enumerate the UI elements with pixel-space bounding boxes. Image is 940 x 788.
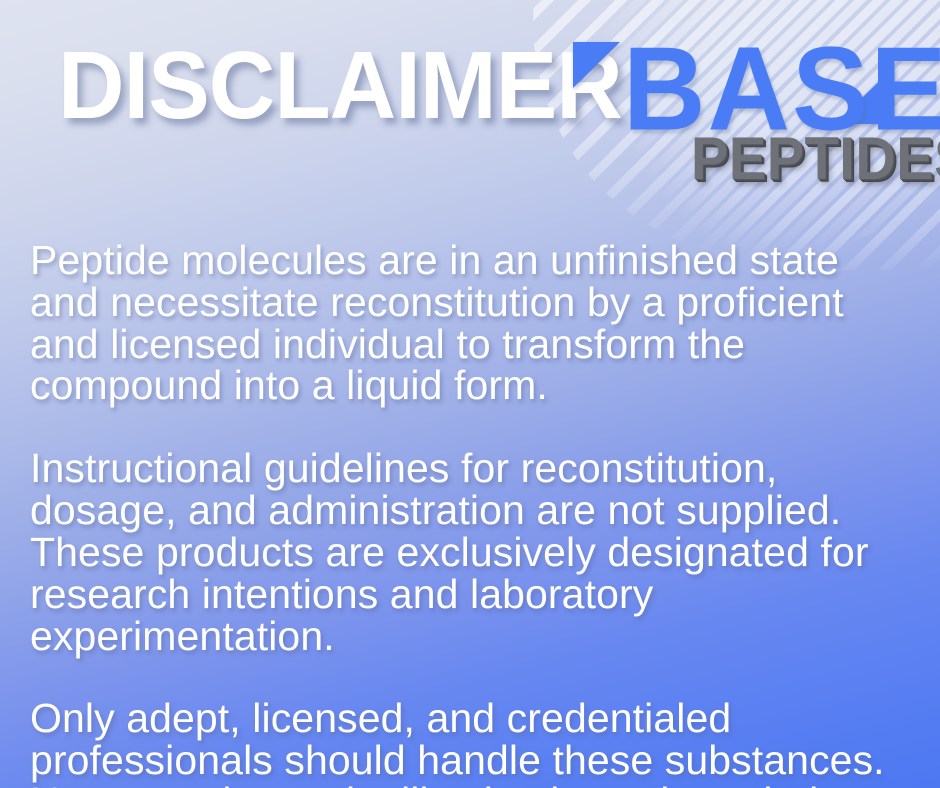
- disclaimer-paragraph: Instructional guidelines for reconstitut…: [30, 448, 915, 657]
- brand-logo: BASE PEPTIDES: [560, 22, 940, 187]
- page-title: DISCLAIMER: [58, 38, 622, 134]
- triangle-left-icon: [573, 42, 620, 88]
- disclaimer-paragraph: Peptide molecules are in an unfinished s…: [30, 240, 915, 407]
- disclaimer-banner: DISCLAIMER BASE PEPTIDES Peptide molecul…: [0, 0, 940, 788]
- disclaimer-paragraph: Only adept, licensed, and credentialed p…: [30, 698, 915, 788]
- logo-secondary-text: PEPTIDES: [691, 128, 940, 188]
- disclaimer-body: Peptide molecules are in an unfinished s…: [30, 240, 915, 788]
